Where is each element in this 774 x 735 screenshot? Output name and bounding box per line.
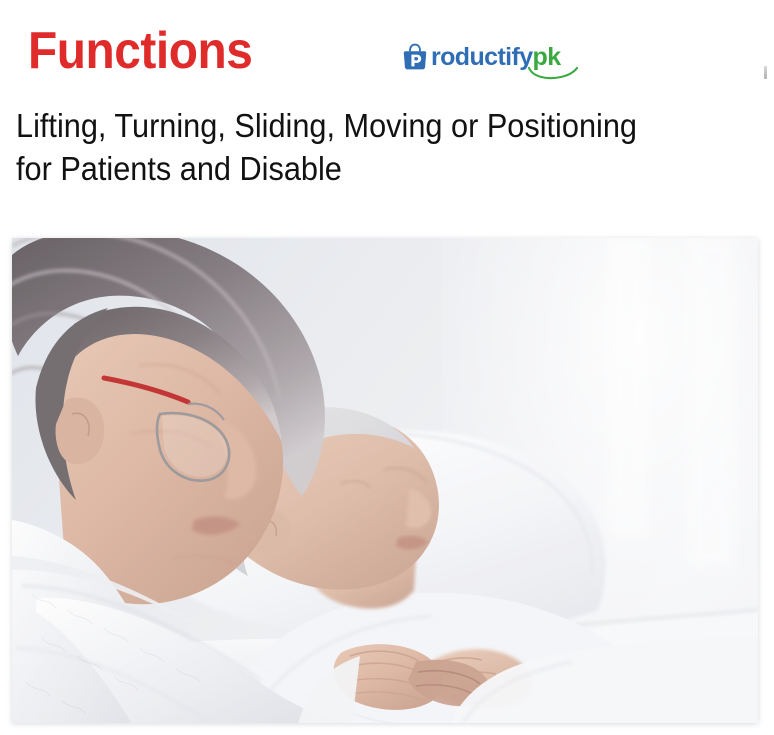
product-banner: Functions roductifypk Lifting, Turning, … bbox=[0, 0, 774, 735]
productify-logo[interactable]: roductifypk bbox=[400, 40, 561, 74]
subtitle-line-1: Lifting, Turning, Sliding, Moving or Pos… bbox=[16, 104, 719, 147]
page-title: Functions bbox=[28, 22, 252, 80]
stray-mark bbox=[764, 66, 767, 79]
logo-wordmark: roductifypk bbox=[431, 45, 561, 70]
shopping-bag-icon bbox=[400, 42, 430, 72]
logo-word-main: roductify bbox=[431, 43, 533, 71]
banner-subtitle: Lifting, Turning, Sliding, Moving or Pos… bbox=[16, 104, 719, 190]
logo-word-tld: pk bbox=[533, 43, 561, 71]
hero-photo bbox=[12, 238, 758, 723]
subtitle-line-2: for Patients and Disable bbox=[16, 147, 719, 190]
